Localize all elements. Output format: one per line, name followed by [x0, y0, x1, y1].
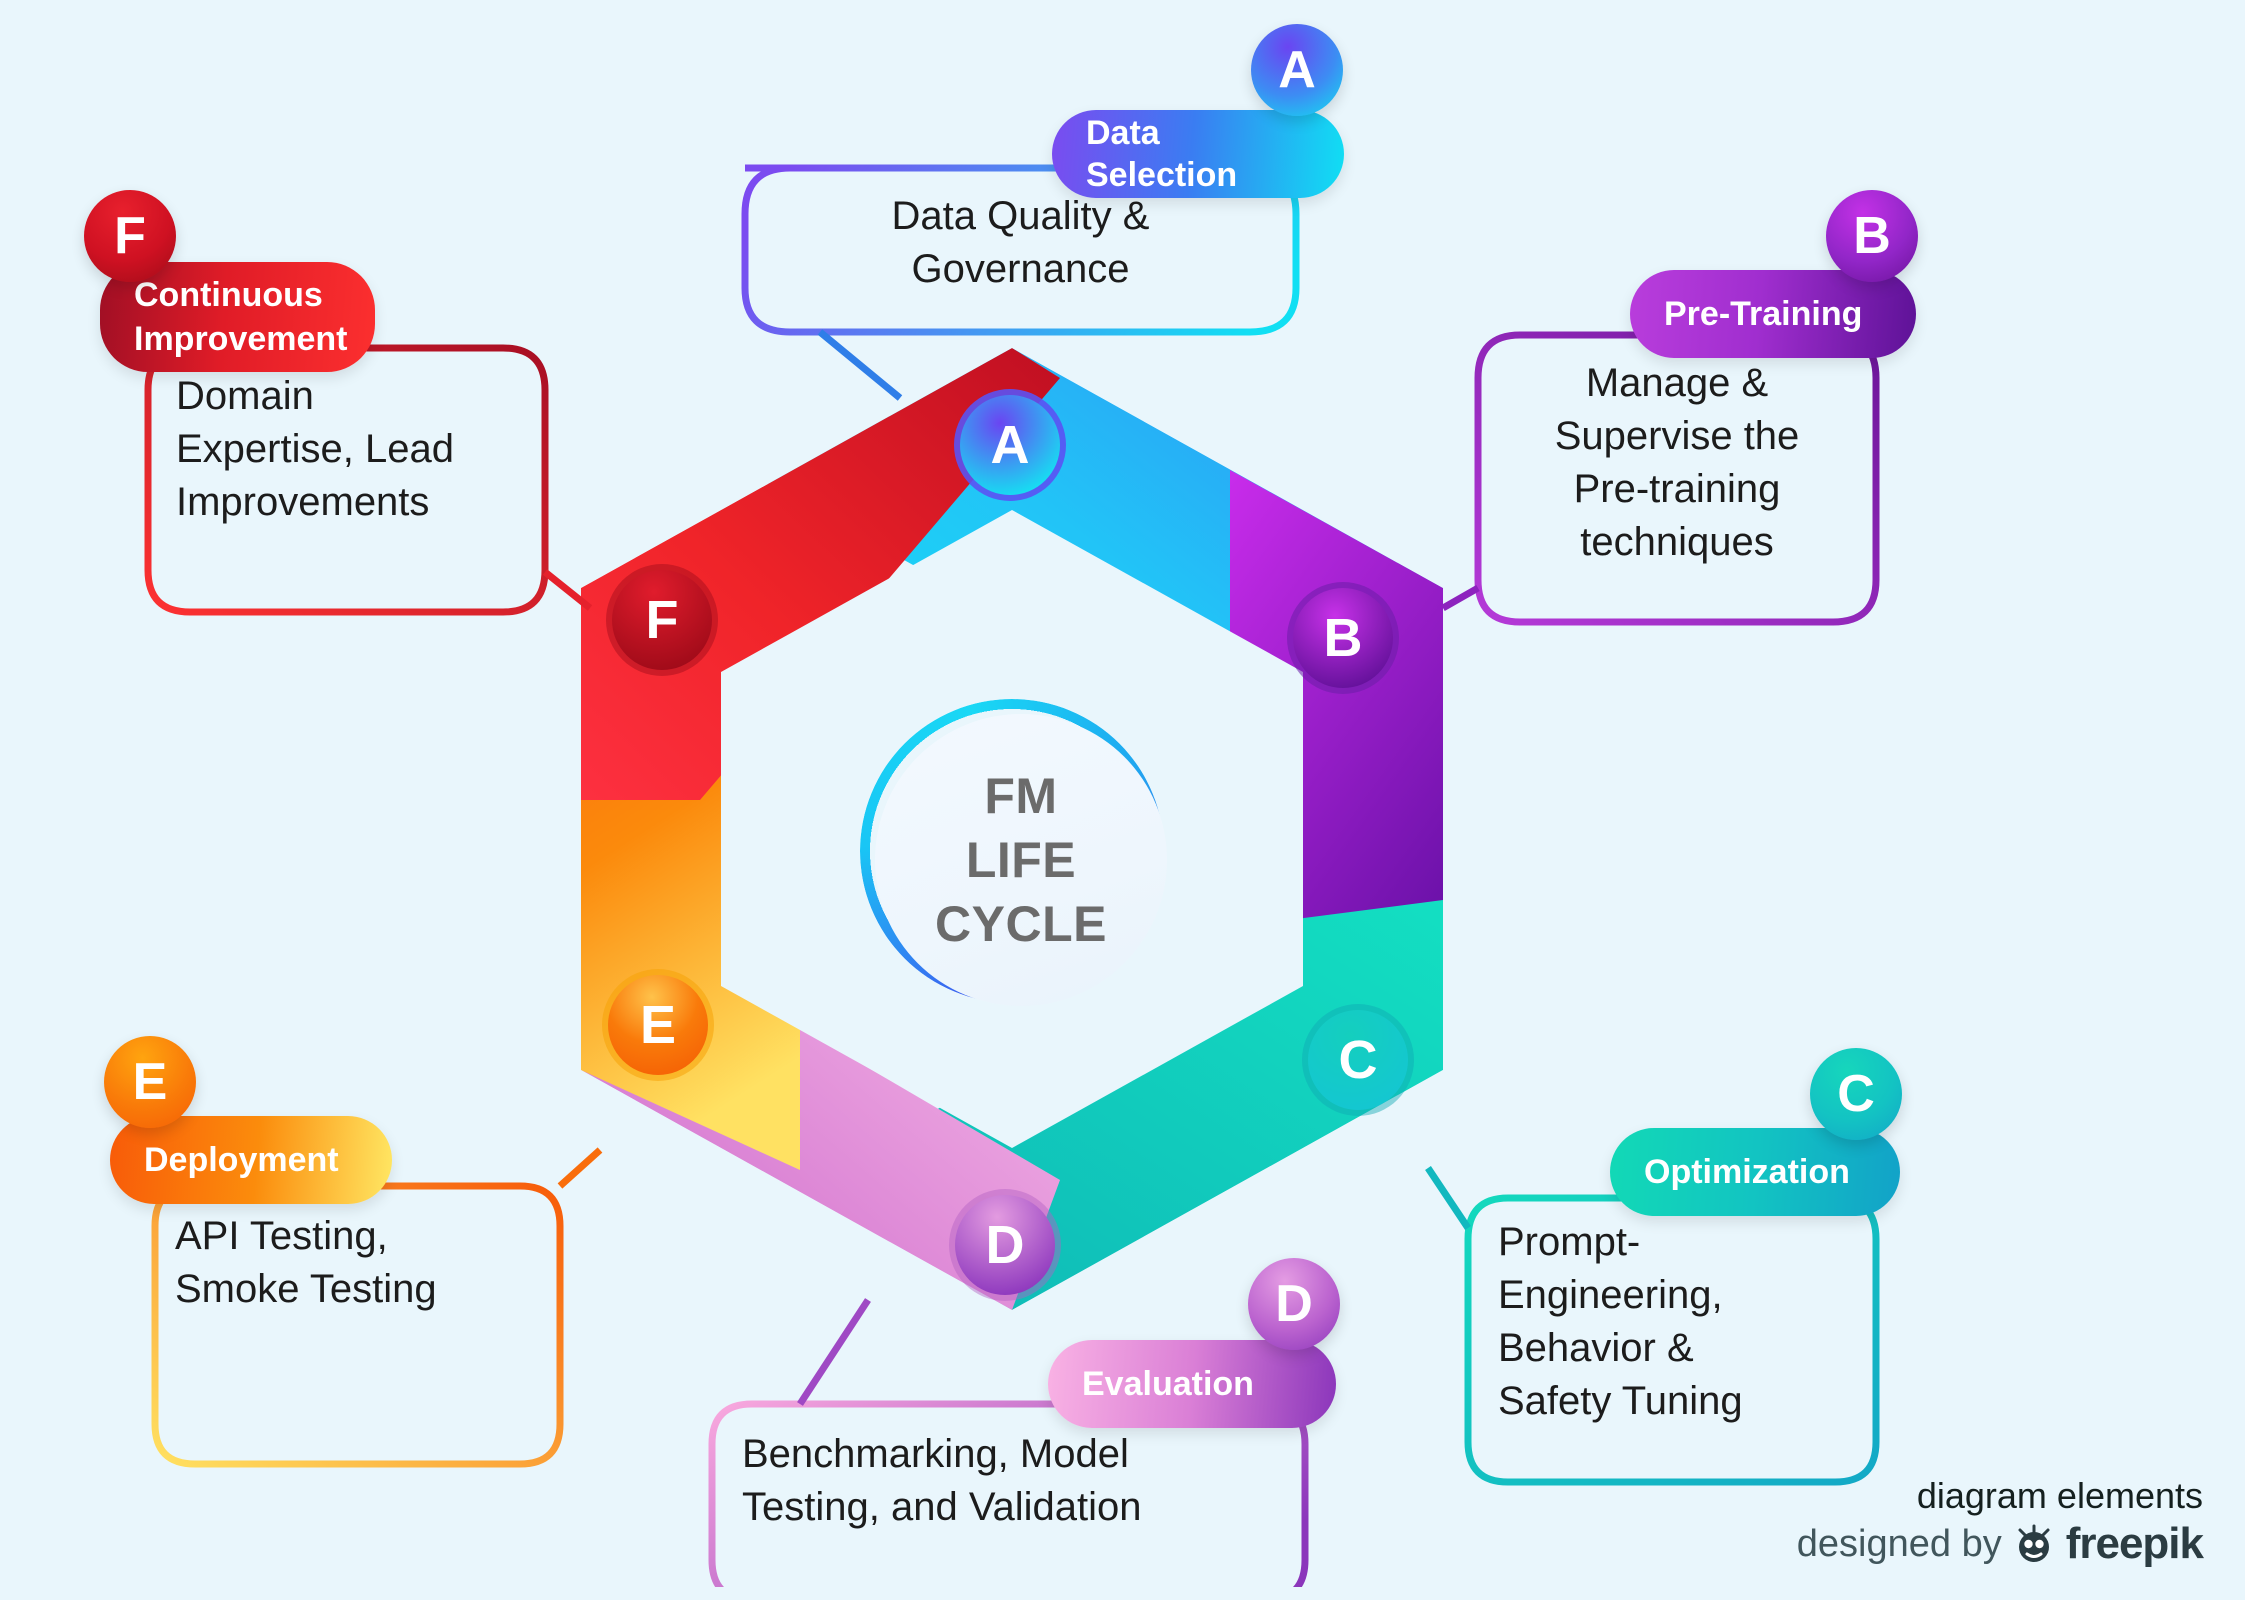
hex-badge-c[interactable]: C [1306, 1008, 1410, 1112]
center-line-1: FM [935, 764, 1107, 828]
callout-e: API Testing, Smoke Testing [155, 1186, 560, 1464]
hex-badge-d[interactable]: D [953, 1193, 1057, 1297]
freepik-brand: freepik [2066, 1519, 2203, 1569]
badge-f[interactable]: F [84, 190, 176, 282]
pill-b[interactable]: Pre-Training [1630, 270, 1916, 358]
badge-e-letter: E [133, 1052, 168, 1112]
hex-badge-c-letter: C [1339, 1029, 1378, 1091]
callout-a-text: Data Quality & Governance [787, 190, 1254, 296]
connector-d [800, 1300, 868, 1404]
connector-a [820, 332, 900, 398]
callout-c-text: Prompt- Engineering, Behavior & Safety T… [1498, 1216, 1856, 1428]
callout-f-text: Domain Expertise, Lead Improvements [176, 370, 531, 529]
pill-e[interactable]: Deployment [110, 1116, 392, 1204]
badge-b-letter: B [1853, 206, 1891, 266]
badge-d-letter: D [1275, 1274, 1313, 1334]
hex-badge-e[interactable]: E [606, 973, 710, 1077]
badge-a-letter: A [1278, 40, 1316, 100]
hex-badge-a[interactable]: A [958, 393, 1062, 497]
hex-badge-b[interactable]: B [1291, 586, 1395, 690]
hex-badge-f-letter: F [646, 589, 679, 651]
callout-b-text: Manage & Supervise the Pre-training tech… [1498, 357, 1856, 569]
callout-b: Manage & Supervise the Pre-training tech… [1478, 335, 1876, 622]
pill-f-label: Continuous Improvement [134, 273, 348, 361]
diagram-canvas: A B C D E F FM LIFE CYCLE [0, 0, 2245, 1587]
pill-c[interactable]: Optimization [1610, 1128, 1900, 1216]
hex-badge-b-letter: B [1324, 607, 1363, 669]
center-label: FM LIFE CYCLE [866, 705, 1176, 1015]
hex-badge-e-letter: E [640, 994, 676, 1056]
hex-badge-d-letter: D [986, 1214, 1025, 1276]
badge-e[interactable]: E [104, 1036, 196, 1128]
connector-b [1443, 588, 1478, 608]
pill-a-label: Data Selection [1086, 112, 1318, 196]
callout-e-text: API Testing, Smoke Testing [175, 1210, 540, 1316]
callout-d-text: Benchmarking, Model Testing, and Validat… [742, 1428, 1285, 1534]
pill-c-label: Optimization [1644, 1151, 1850, 1193]
connector-e [560, 1150, 600, 1186]
pill-d[interactable]: Evaluation [1048, 1340, 1336, 1428]
badge-f-letter: F [114, 206, 146, 266]
hex-segment-b [1230, 470, 1443, 1070]
pill-e-label: Deployment [144, 1139, 339, 1181]
pill-b-label: Pre-Training [1664, 293, 1862, 335]
badge-a[interactable]: A [1251, 24, 1343, 116]
connector-f [545, 572, 590, 608]
attribution-prefix: designed by [1797, 1519, 2002, 1569]
attribution: diagram elements designed by freepik [1797, 1473, 2203, 1569]
callout-c: Prompt- Engineering, Behavior & Safety T… [1468, 1198, 1876, 1482]
badge-d[interactable]: D [1248, 1258, 1340, 1350]
hex-badge-f[interactable]: F [610, 568, 714, 672]
badge-c-letter: C [1837, 1064, 1875, 1124]
freepik-robot-icon [2012, 1523, 2056, 1565]
attribution-line-1: diagram elements [1797, 1473, 2203, 1519]
center-line-3: CYCLE [935, 892, 1107, 956]
callout-f: Domain Expertise, Lead Improvements [148, 348, 545, 612]
callout-d: Benchmarking, Model Testing, and Validat… [712, 1404, 1305, 1600]
attribution-line-2: designed by freepik [1797, 1519, 2203, 1569]
center-line-2: LIFE [935, 828, 1107, 892]
pill-d-label: Evaluation [1082, 1363, 1254, 1405]
connector-c [1428, 1168, 1468, 1228]
pill-a[interactable]: Data Selection [1052, 110, 1344, 198]
hex-badge-a-letter: A [991, 414, 1030, 476]
badge-b[interactable]: B [1826, 190, 1918, 282]
badge-c[interactable]: C [1810, 1048, 1902, 1140]
